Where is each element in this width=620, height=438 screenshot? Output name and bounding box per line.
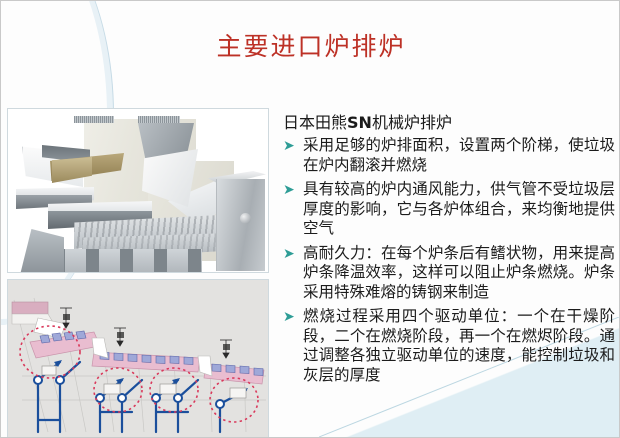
figure-drive-unit-schematic <box>7 279 269 438</box>
hopper-grill-left <box>74 116 114 123</box>
slide: 主要进口炉排炉 <box>0 0 620 438</box>
list-item: ➤ 燃烧过程采用四个驱动单位：一个在干燥阶段，二个在燃烧阶段，再一个在燃烬阶段。… <box>283 307 615 385</box>
list-item: ➤ 具有较高的炉内通风能力，供气管不受垃圾层厚度的影响，它与各炉体组合，来均衡地… <box>283 180 615 239</box>
list-item-text: 具有较高的炉内通风能力，供气管不受垃圾层厚度的影响，它与各炉体组合，来均衡地提供… <box>303 180 615 237</box>
hopper-block <box>12 302 48 314</box>
figure-grate-furnace-3d <box>7 108 269 273</box>
list-item-text: 燃烧过程采用四个驱动单位：一个在干燥阶段，二个在燃烧阶段，再一个在燃烬阶段。通过… <box>303 307 615 384</box>
bullet-list: ➤ 采用足够的炉排面积，设置两个阶梯，使垃圾在炉内翻滚并燃烧 ➤ 具有较高的炉内… <box>283 136 615 385</box>
inspection-port-icon <box>240 213 251 224</box>
list-item: ➤ 采用足够的炉排面积，设置两个阶梯，使垃圾在炉内翻滚并燃烧 <box>283 136 615 175</box>
list-item: ➤ 高耐久力：在每个炉条后有鳍状物，用来提高炉条降温效率，这样可以阻止炉条燃烧。… <box>283 244 615 303</box>
heading-prefix: 日本田熊 <box>283 113 347 132</box>
chute-wall <box>34 318 66 338</box>
content-column: 日本田熊SN机械炉排炉 ➤ 采用足够的炉排面积，设置两个阶梯，使垃圾在炉内翻滚并… <box>283 113 615 390</box>
content-heading: 日本田熊SN机械炉排炉 <box>283 113 615 133</box>
riser-panel-2 <box>198 356 212 376</box>
page-title: 主要进口炉排炉 <box>1 27 620 63</box>
heading-suffix: 机械炉排炉 <box>372 113 452 132</box>
schematic-drawing <box>8 280 269 438</box>
heading-bold: SN <box>347 113 372 132</box>
bullet-arrow-icon: ➤ <box>283 245 295 264</box>
bullet-arrow-icon: ➤ <box>283 137 295 156</box>
bullet-arrow-icon: ➤ <box>283 308 295 327</box>
list-item-text: 采用足够的炉排面积，设置两个阶梯，使垃圾在炉内翻滚并燃烧 <box>303 136 615 174</box>
list-item-text: 高耐久力：在每个炉条后有鳍状物，用来提高炉条降温效率，这样可以阻止炉条燃烧。炉条… <box>303 244 615 301</box>
side-column <box>216 179 265 271</box>
hopper-grill-right <box>138 116 180 123</box>
support-legs <box>52 249 202 273</box>
bullet-arrow-icon: ➤ <box>283 181 295 200</box>
